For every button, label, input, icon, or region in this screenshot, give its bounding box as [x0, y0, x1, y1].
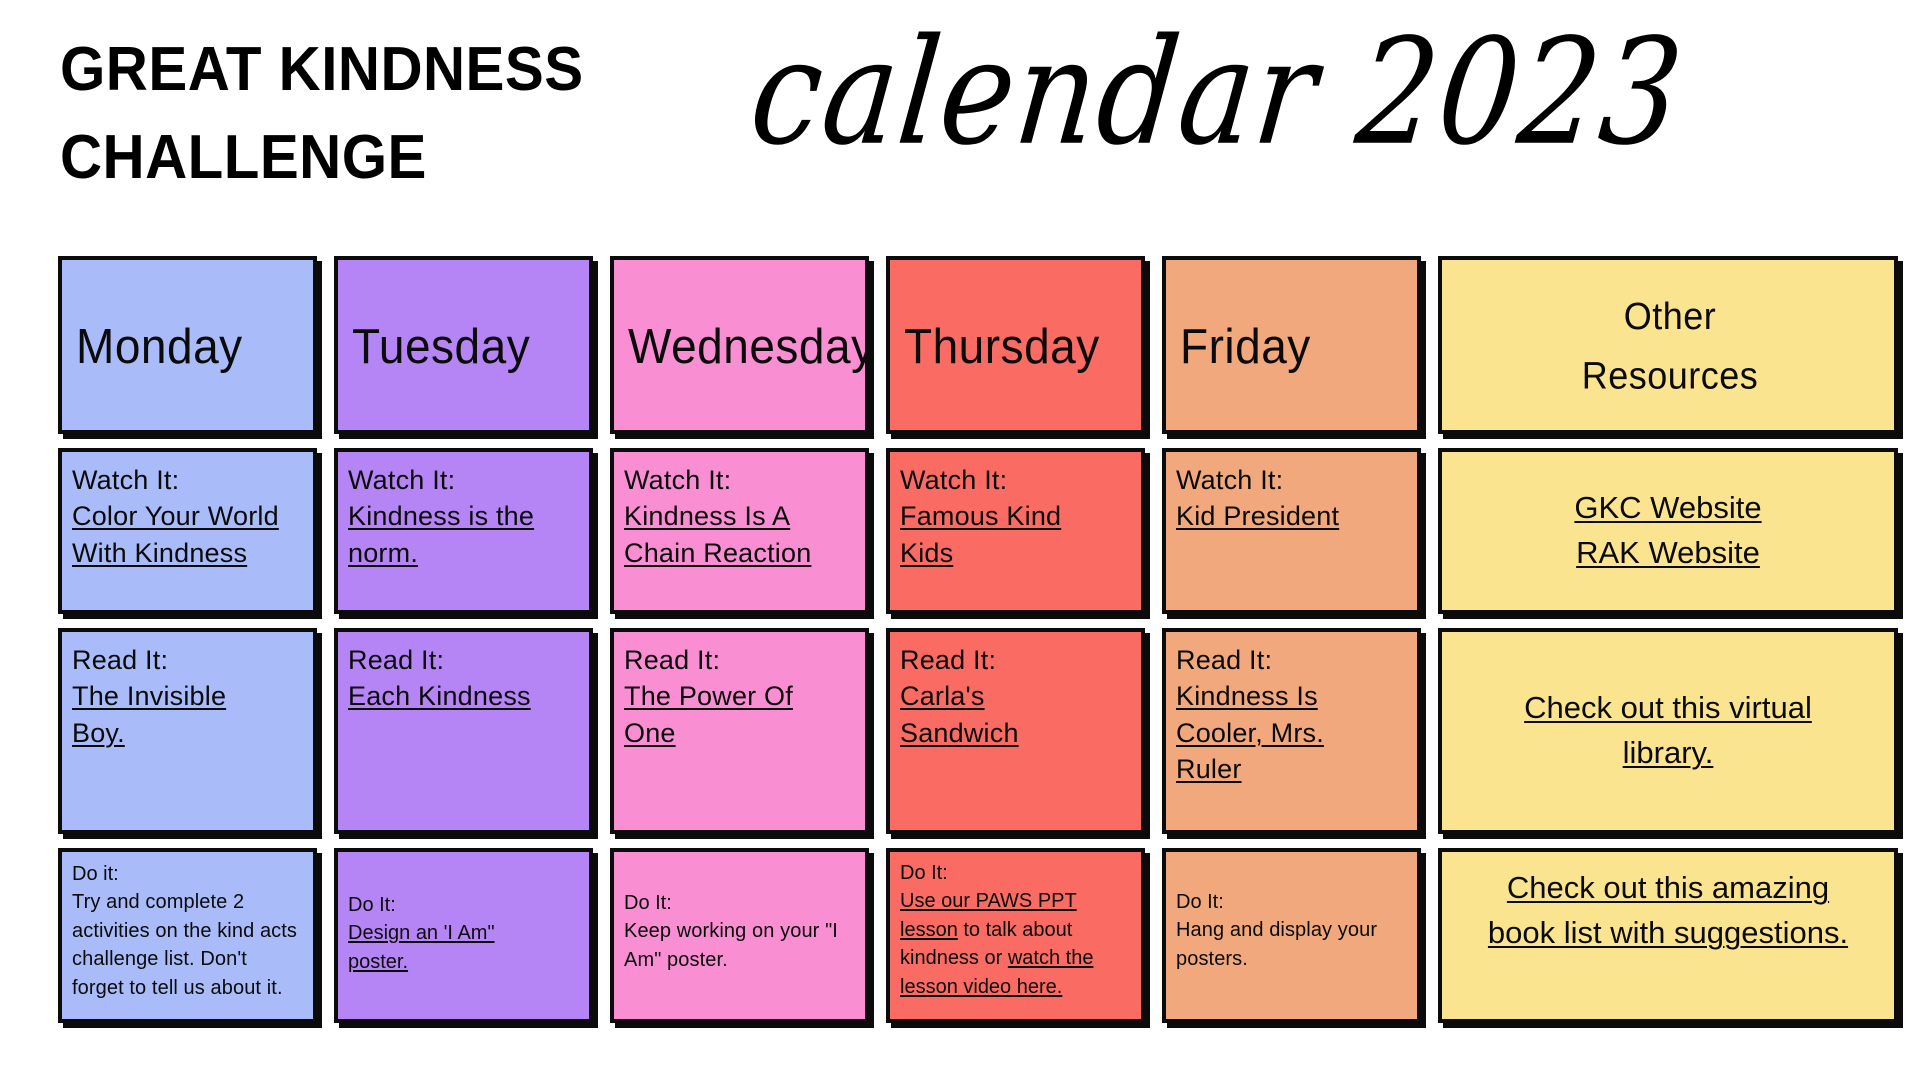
read-link-friday-line-1[interactable]: Kindness Is — [1176, 678, 1407, 714]
read-label-tuesday: Read It: — [348, 642, 579, 678]
header-cell-thursday: Thursday — [886, 256, 1145, 434]
title-line-1: GREAT KINDNESS — [60, 26, 737, 114]
watch-link-thursday-line-2[interactable]: Kids — [900, 535, 1131, 571]
do-label-friday: Do It: — [1176, 888, 1407, 916]
day-label-thursday: Thursday — [904, 320, 1100, 371]
watch-link-monday-line-2[interactable]: With Kindness — [72, 535, 303, 571]
watch-cell-tuesday: Watch It: Kindness is the norm. — [334, 448, 593, 614]
read-label-thursday: Read It: — [900, 642, 1131, 678]
watch-cell-friday: Watch It: Kid President — [1162, 448, 1421, 614]
day-label-monday: Monday — [76, 320, 243, 371]
gkc-website-link[interactable]: GKC Website — [1574, 486, 1761, 531]
watch-cell-thursday: Watch It: Famous Kind Kids — [886, 448, 1145, 614]
read-cell-thursday: Read It: Carla's Sandwich — [886, 628, 1145, 834]
rak-website-link[interactable]: RAK Website — [1576, 531, 1760, 576]
read-link-friday-line-2[interactable]: Cooler, Mrs. — [1176, 715, 1407, 751]
read-cell-monday: Read It: The Invisible Boy. — [58, 628, 317, 834]
do-text-friday: Hang and display your posters. — [1176, 916, 1407, 973]
day-label-wednesday: Wednesday — [628, 320, 869, 371]
do-label-thursday: Do It: — [900, 859, 1131, 887]
resources-label-line-2: Resources — [1582, 346, 1759, 405]
resources-label-line-1: Other — [1582, 287, 1759, 346]
watch-link-wednesday-line-2[interactable]: Chain Reaction — [624, 535, 855, 571]
book-list-link-line-2[interactable]: book list with suggestions. — [1488, 911, 1848, 956]
page-title: GREAT KINDNESS CHALLENGE — [60, 26, 780, 202]
header-cell-friday: Friday — [1162, 256, 1421, 434]
do-text-wednesday: Keep working on your "I Am" poster. — [624, 917, 855, 974]
watch-link-tuesday-line-2[interactable]: norm. — [348, 535, 579, 571]
do-label-tuesday: Do It: — [348, 891, 579, 919]
script-subtitle: calendar 2023 — [745, 20, 1690, 166]
header-cell-monday: Monday — [58, 256, 317, 434]
read-label-friday: Read It: — [1176, 642, 1407, 678]
resources-label: Other Resources — [1582, 287, 1759, 405]
page-header: GREAT KINDNESS CHALLENGE calendar 2023 — [60, 12, 1860, 222]
do-link-tuesday-line-1[interactable]: Design an 'I Am" — [348, 919, 579, 947]
do-cell-tuesday: Do It: Design an 'I Am" poster. — [334, 848, 593, 1023]
watch-cell-wednesday: Watch It: Kindness Is A Chain Reaction — [610, 448, 869, 614]
header-cell-tuesday: Tuesday — [334, 256, 593, 434]
do-text-thursday: Use our PAWS PPT lesson to talk about ki… — [900, 887, 1131, 1001]
kindness-calendar-page: GREAT KINDNESS CHALLENGE calendar 2023 M… — [0, 0, 1920, 1080]
watch-link-monday-line-1[interactable]: Color Your World — [72, 498, 303, 534]
do-cell-monday: Do it: Try and complete 2 activities on … — [58, 848, 317, 1023]
header-cell-other-resources: Other Resources — [1438, 256, 1898, 434]
read-link-thursday-line-2[interactable]: Sandwich — [900, 715, 1131, 751]
watch-label-thursday: Watch It: — [900, 462, 1131, 498]
day-label-friday: Friday — [1180, 320, 1311, 371]
read-cell-tuesday: Read It: Each Kindness — [334, 628, 593, 834]
read-link-wednesday-line-1[interactable]: The Power Of — [624, 678, 855, 714]
header-cell-wednesday: Wednesday — [610, 256, 869, 434]
watch-label-wednesday: Watch It: — [624, 462, 855, 498]
watch-label-friday: Watch It: — [1176, 462, 1407, 498]
read-link-monday-line-2[interactable]: Boy. — [72, 715, 303, 751]
do-label-wednesday: Do It: — [624, 889, 855, 917]
read-link-tuesday-line-1[interactable]: Each Kindness — [348, 678, 579, 714]
day-label-tuesday: Tuesday — [352, 320, 530, 371]
read-cell-wednesday: Read It: The Power Of One — [610, 628, 869, 834]
do-text-monday: Try and complete 2 activities on the kin… — [72, 888, 303, 1002]
calendar-grid: Monday Tuesday Wednesday Thursday Friday… — [58, 256, 1868, 1023]
resources-cell-virtual-library: Check out this virtual library. — [1438, 628, 1898, 834]
watch-link-wednesday-line-1[interactable]: Kindness Is A — [624, 498, 855, 534]
book-list-link-line-1[interactable]: Check out this amazing — [1507, 866, 1829, 911]
read-cell-friday: Read It: Kindness Is Cooler, Mrs. Ruler — [1162, 628, 1421, 834]
virtual-library-link-line-2[interactable]: library. — [1623, 731, 1714, 776]
resources-cell-websites: GKC Website RAK Website — [1438, 448, 1898, 614]
title-line-2: CHALLENGE — [60, 114, 737, 202]
watch-link-friday-line-1[interactable]: Kid President — [1176, 498, 1407, 534]
read-link-thursday-line-1[interactable]: Carla's — [900, 678, 1131, 714]
read-label-monday: Read It: — [72, 642, 303, 678]
virtual-library-link-line-1[interactable]: Check out this virtual — [1524, 686, 1812, 731]
read-label-wednesday: Read It: — [624, 642, 855, 678]
do-label-monday: Do it: — [72, 860, 303, 888]
resources-cell-book-list: Check out this amazing book list with su… — [1438, 848, 1898, 1023]
do-cell-thursday: Do It: Use our PAWS PPT lesson to talk a… — [886, 848, 1145, 1023]
read-link-friday-line-3[interactable]: Ruler — [1176, 751, 1407, 787]
do-cell-friday: Do It: Hang and display your posters. — [1162, 848, 1421, 1023]
watch-label-monday: Watch It: — [72, 462, 303, 498]
watch-label-tuesday: Watch It: — [348, 462, 579, 498]
do-link-tuesday-line-2[interactable]: poster. — [348, 948, 579, 976]
watch-cell-monday: Watch It: Color Your World With Kindness — [58, 448, 317, 614]
read-link-monday-line-1[interactable]: The Invisible — [72, 678, 303, 714]
watch-link-thursday-line-1[interactable]: Famous Kind — [900, 498, 1131, 534]
watch-link-tuesday-line-1[interactable]: Kindness is the — [348, 498, 579, 534]
do-cell-wednesday: Do It: Keep working on your "I Am" poste… — [610, 848, 869, 1023]
read-link-wednesday-line-2[interactable]: One — [624, 715, 855, 751]
